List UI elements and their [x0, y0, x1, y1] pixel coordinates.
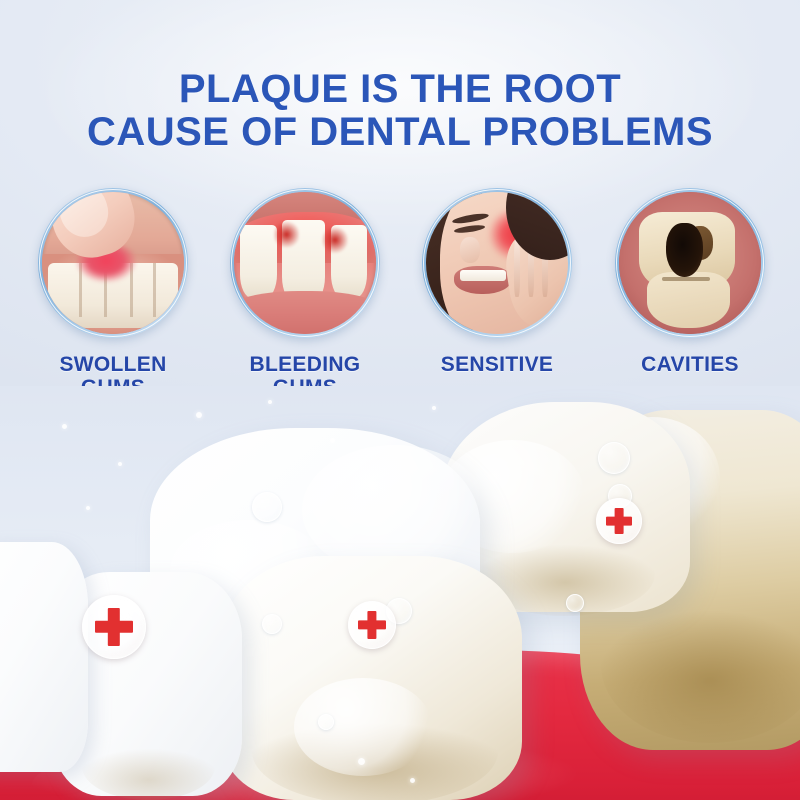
- sparkle-dot: [62, 424, 67, 429]
- molar-center: [222, 556, 522, 800]
- sparkle-dot: [330, 438, 335, 443]
- sparkle-dot: [432, 406, 436, 410]
- symptom-photo-ring: [615, 188, 765, 338]
- foam-bubble: [598, 442, 630, 474]
- cross-icon: [606, 517, 632, 526]
- swollen-gums-photo: [42, 192, 184, 334]
- sparkle-dot: [86, 506, 90, 510]
- symptom-label: SENSITIVE: [401, 353, 593, 376]
- symptom-list: SWOLLEN GUMS BLEEDING GUMS: [0, 188, 800, 408]
- sparkle-dot: [268, 400, 272, 404]
- symptom-item-sensitive[interactable]: SENSITIVE: [401, 188, 593, 376]
- cross-icon: [95, 621, 132, 633]
- plaque-teeth-illustration: [0, 386, 800, 800]
- sparkle-dot: [118, 462, 122, 466]
- sensitive-teeth-photo: [426, 192, 568, 334]
- symptom-label-line-1: SWOLLEN: [59, 353, 166, 376]
- cross-icon: [358, 620, 386, 629]
- poster: PLAQUE IS THE ROOT CAUSE OF DENTAL PROBL…: [0, 0, 800, 800]
- symptom-item-swollen-gums[interactable]: SWOLLEN GUMS: [17, 188, 209, 399]
- bleeding-gums-photo: [234, 192, 376, 334]
- red-cross-badge[interactable]: [82, 595, 146, 659]
- headline-line-2: CAUSE OF DENTAL PROBLEMS: [0, 111, 800, 154]
- symptom-label-line-1: SENSITIVE: [441, 353, 553, 376]
- symptom-photo-ring: [38, 188, 188, 338]
- symptom-photo-ring: [230, 188, 380, 338]
- foam-bubble: [262, 614, 282, 634]
- red-cross-badge[interactable]: [596, 498, 642, 544]
- cavity-molar-photo: [619, 192, 761, 334]
- page-title: PLAQUE IS THE ROOT CAUSE OF DENTAL PROBL…: [0, 68, 800, 154]
- sparkle-dot: [410, 778, 415, 783]
- red-cross-badge[interactable]: [348, 601, 396, 649]
- foam-bubble: [318, 714, 334, 730]
- symptom-item-cavities[interactable]: CAVITIES: [594, 188, 786, 376]
- sparkle-dot: [196, 412, 202, 418]
- symptom-photo-ring: [422, 188, 572, 338]
- sparkle-dot: [358, 758, 365, 765]
- symptom-item-bleeding-gums[interactable]: BLEEDING GUMS: [209, 188, 401, 399]
- foam-bubble: [252, 492, 282, 522]
- symptom-label-line-1: CAVITIES: [641, 353, 739, 376]
- tooth-edge-left: [0, 542, 88, 772]
- symptom-label: CAVITIES: [594, 353, 786, 376]
- symptom-label-line-1: BLEEDING: [250, 353, 361, 376]
- foam-bubble: [566, 594, 584, 612]
- headline-line-1: PLAQUE IS THE ROOT: [179, 67, 621, 111]
